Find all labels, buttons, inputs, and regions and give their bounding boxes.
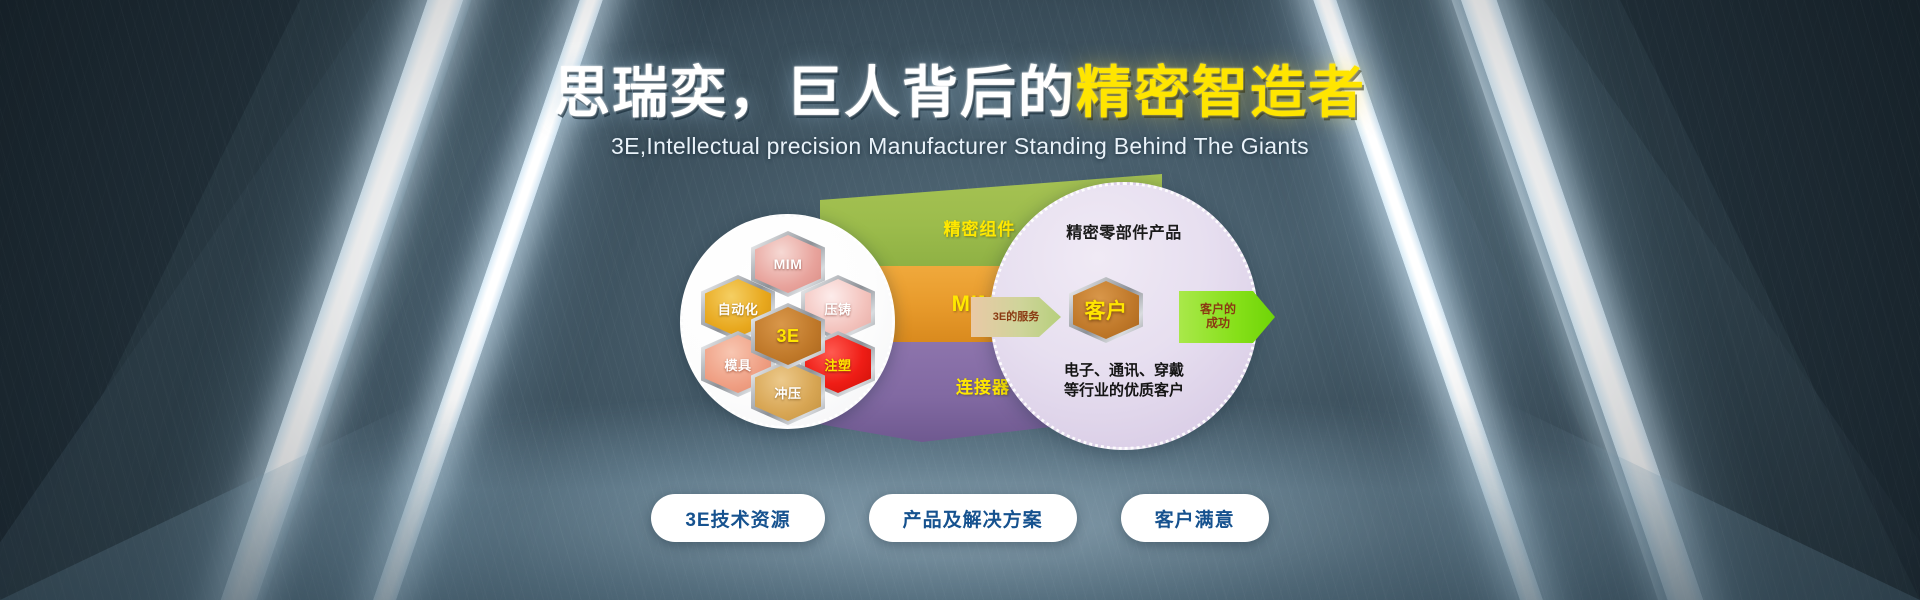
pill-label-customer-satisfaction: 客户满意 (1155, 505, 1235, 532)
customer-circle: 精密零部件产品 3E的服务 客户 客户的 成功 电子、通讯、穿戴 等行业的优质客… (990, 182, 1258, 450)
pill-tech-resources[interactable]: 3E技术资源 (651, 494, 824, 542)
capability-diagram: 精密组件 MIM 连接器 MIM 自动化 (690, 196, 1250, 446)
pill-customer-satisfaction[interactable]: 客户满意 (1121, 494, 1269, 542)
customer-circle-title: 精密零部件产品 (993, 219, 1255, 243)
pill-products-solutions[interactable]: 产品及解决方案 (869, 494, 1077, 542)
hex-label-injection: 注塑 (824, 355, 851, 374)
headline-block: 思瑞奕，巨人背后的精密智造者 3E,Intellectual precision… (0, 64, 1920, 160)
customer-circle-footer: 电子、通讯、穿戴 等行业的优质客户 (993, 361, 1255, 402)
arrow-3e-service: 3E的服务 (971, 297, 1061, 337)
hex-label-diecasting: 压铸 (824, 299, 851, 318)
arrow-right-label-line1: 客户的 (1200, 303, 1236, 317)
arrow-right-label-line2: 成功 (1200, 317, 1236, 331)
pill-label-products-solutions: 产品及解决方案 (903, 505, 1043, 532)
capabilities-circle: MIM 自动化 压铸 3E (680, 214, 895, 429)
pill-label-tech-resources: 3E技术资源 (685, 505, 790, 532)
hex-3e-core[interactable]: 3E (751, 303, 825, 369)
hexagon-cluster: MIM 自动化 压铸 3E (683, 217, 892, 426)
customer-footer-line2: 等行业的优质客户 (993, 381, 1255, 401)
hex-label-stamping: 冲压 (774, 383, 801, 402)
headline-yellow-part: 精密智造者 (1076, 61, 1366, 124)
headline-white-part: 思瑞奕，巨人背后的 (554, 61, 1076, 124)
arrow-left-label: 3E的服务 (993, 311, 1039, 324)
banner-stage: 思瑞奕，巨人背后的精密智造者 3E,Intellectual precision… (0, 0, 1920, 600)
cta-pill-row: 3E技术资源 产品及解决方案 客户满意 (0, 494, 1920, 542)
hex-label-3e: 3E (776, 326, 799, 347)
hex-label-mold: 模具 (724, 355, 751, 374)
hex-customer[interactable]: 客户 (1069, 277, 1143, 343)
headline-main: 思瑞奕，巨人背后的精密智造者 (0, 64, 1920, 123)
hex-label-customer: 客户 (1085, 295, 1128, 325)
headline-subtitle: 3E,Intellectual precision Manufacturer S… (0, 133, 1920, 160)
customer-footer-line1: 电子、通讯、穿戴 (993, 361, 1255, 381)
hex-label-mim: MIM (774, 256, 803, 272)
